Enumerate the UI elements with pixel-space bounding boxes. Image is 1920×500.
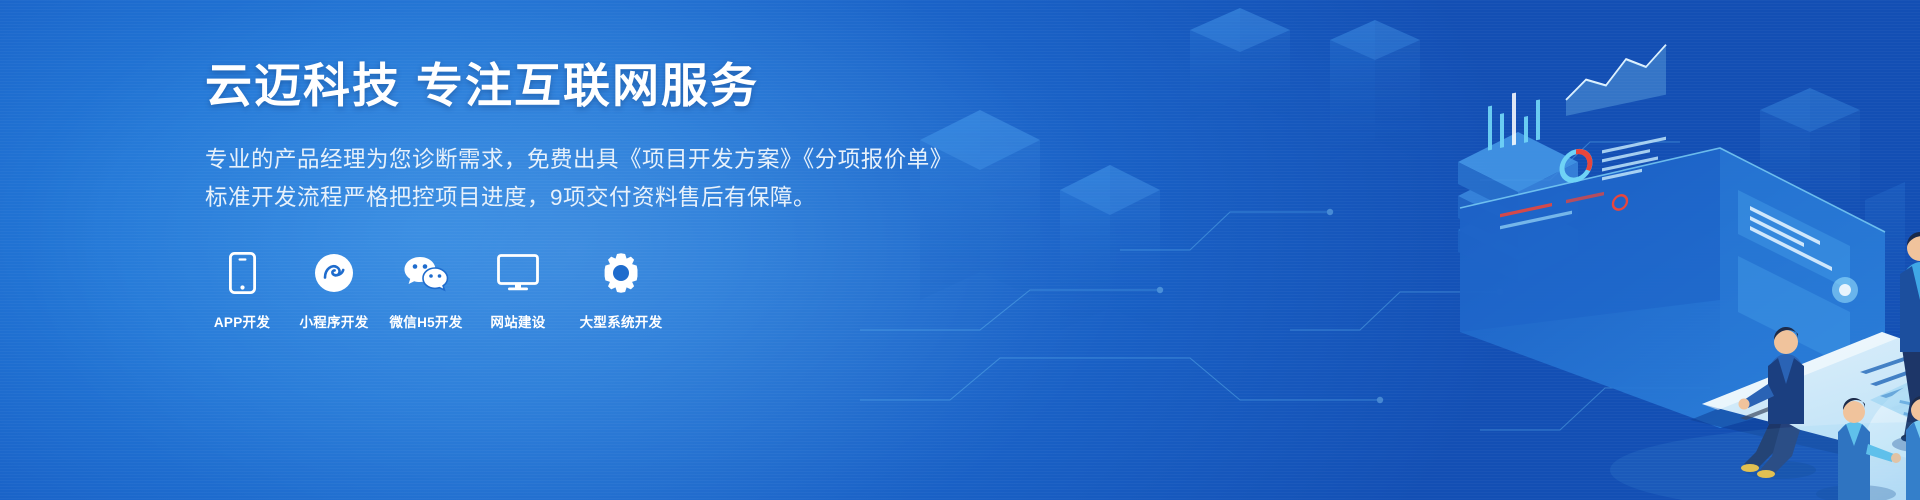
service-label-app: APP开发 [214, 311, 270, 331]
mobile-phone-icon [229, 249, 256, 297]
service-item-miniprogram[interactable]: 小程序开发 [297, 249, 371, 331]
service-label-miniprogram: 小程序开发 [300, 311, 369, 331]
subtitle-line-2: 标准开发流程严格把控项目进度，9项交付资料售后有保障。 [205, 181, 905, 215]
mini-program-icon [314, 249, 354, 297]
service-label-wechat: 微信H5开发 [389, 311, 462, 331]
monitor-icon [497, 249, 539, 297]
service-item-website[interactable]: 网站建设 [481, 249, 555, 331]
dashboard-line-chart [1566, 45, 1666, 116]
banner-content: 云迈科技 专注互联网服务 专业的产品经理为您诊断需求，免费出具《项目开发方案》《… [205, 62, 905, 331]
service-item-app[interactable]: APP开发 [205, 249, 279, 331]
service-label-system: 大型系统开发 [580, 311, 663, 331]
subtitle-line-1: 专业的产品经理为您诊断需求，免费出具《项目开发方案》《分项报价单》 [205, 143, 905, 177]
illustration [860, 0, 1920, 500]
hero-banner: 云迈科技 专注互联网服务 专业的产品经理为您诊断需求，免费出具《项目开发方案》《… [0, 0, 1920, 500]
service-item-system[interactable]: 大型系统开发 [573, 249, 669, 331]
wechat-icon [403, 249, 449, 297]
gear-icon [600, 249, 642, 297]
service-label-website: 网站建设 [490, 311, 545, 331]
service-item-wechat[interactable]: 微信H5开发 [389, 249, 463, 331]
page-title: 云迈科技 专注互联网服务 [205, 62, 905, 109]
service-icon-row: APP开发 小程序开发 [205, 249, 905, 331]
